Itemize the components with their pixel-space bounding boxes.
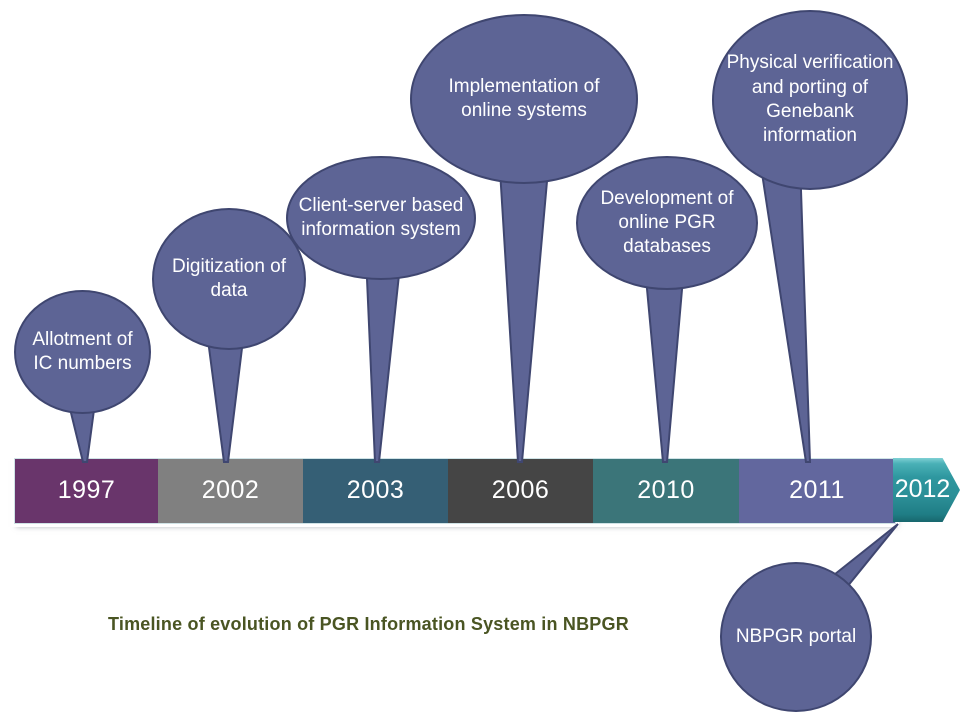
pointer-stem-2010 (646, 278, 683, 462)
pointer-stem-2011 (760, 160, 810, 462)
milestone-label-2010: Development of online PGR databases (578, 187, 756, 260)
milestone-label-1997: Allotment of IC numbers (16, 328, 149, 377)
milestone-label-2002: Digitization of data (154, 255, 304, 304)
milestone-bubble-2012[interactable]: NBPGR portal (720, 562, 872, 712)
milestone-bubble-2002[interactable]: Digitization of data (152, 208, 306, 350)
pointer-stem-2003 (366, 256, 401, 462)
milestone-label-2003: Client-server based information system (288, 194, 474, 243)
milestone-label-2012: NBPGR portal (727, 625, 865, 649)
milestone-bubble-2011[interactable]: Physical verification and porting of Gen… (712, 10, 908, 190)
milestone-label-2006: Implementation of online systems (412, 75, 636, 124)
milestone-bubble-1997[interactable]: Allotment of IC numbers (14, 290, 151, 414)
pointer-stem-2002 (208, 340, 243, 462)
timeline-diagram: Allotment of IC numbers Digitization of … (0, 0, 960, 720)
milestone-bubble-2003[interactable]: Client-server based information system (286, 156, 476, 280)
milestone-bubble-2010[interactable]: Development of online PGR databases (576, 156, 758, 290)
pointer-stem-2006 (500, 170, 548, 462)
milestone-label-2011: Physical verification and porting of Gen… (714, 51, 906, 148)
milestone-bubble-2006[interactable]: Implementation of online systems (410, 14, 638, 184)
